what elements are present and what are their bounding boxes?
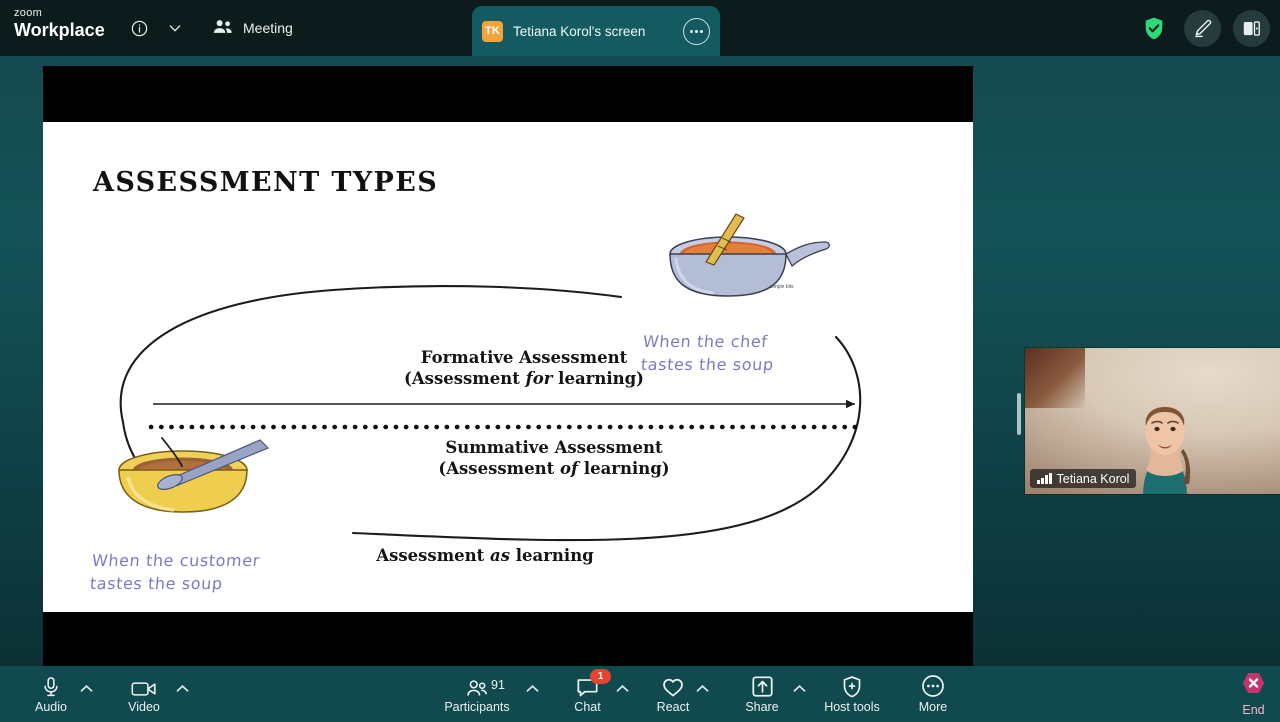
- audio-level-bars-icon: [1037, 473, 1052, 484]
- soup-pan-with-wooden-spoon-illustration: simple bits: [658, 202, 833, 312]
- chevron-down-icon[interactable]: [160, 0, 190, 56]
- as-learning-pre: Assessment: [376, 546, 490, 565]
- info-circle-icon[interactable]: [124, 0, 154, 56]
- participant-name-badge: Tetiana Korol: [1030, 469, 1136, 488]
- as-learning-post: learning: [510, 546, 594, 565]
- host-tools-control[interactable]: Host tools: [812, 666, 892, 722]
- svg-text:simple bits: simple bits: [770, 284, 794, 290]
- summative-line-2-emphasis: of: [560, 459, 578, 478]
- tab-title: Tetiana Korol's screen: [513, 24, 673, 39]
- summative-line-2-pre: (Assessment: [438, 459, 560, 478]
- video-label: Video: [128, 701, 160, 714]
- heart-icon: [661, 674, 685, 698]
- video-background-corner: [1025, 348, 1085, 408]
- summative-assessment-label: Summative Assessment (Assessment of lear…: [404, 437, 704, 480]
- formative-line-2-emphasis: for: [526, 369, 553, 388]
- brand-zoom-text: zoom: [14, 8, 105, 19]
- more-dots-icon: [921, 674, 945, 698]
- shield-host-icon: [841, 674, 863, 698]
- chat-options-caret-icon[interactable]: [616, 684, 629, 696]
- presentation-slide: ASSESSMENT TYPES: [43, 122, 973, 612]
- microphone-icon: [41, 674, 61, 698]
- assessment-as-learning-label: Assessment as learning: [335, 545, 635, 566]
- shared-screen-tab[interactable]: TK Tetiana Korol's screen: [472, 6, 720, 56]
- audio-label: Audio: [35, 701, 67, 714]
- more-control[interactable]: More: [900, 666, 966, 722]
- soup-bowl-with-spoon-illustration: [108, 432, 298, 527]
- participants-options-caret-icon[interactable]: [526, 684, 539, 696]
- host-tools-label: Host tools: [824, 701, 880, 714]
- top-bar: zoom Workplace Meeting TK: [0, 0, 1280, 56]
- meeting-stage: ASSESSMENT TYPES: [0, 56, 1280, 666]
- share-control[interactable]: Share: [737, 666, 787, 722]
- meeting-tab-button[interactable]: Meeting: [212, 0, 293, 56]
- formative-line-1: Formative Assessment: [421, 348, 627, 367]
- share-options-caret-icon[interactable]: [793, 684, 806, 696]
- view-layout-icon[interactable]: [1233, 10, 1270, 47]
- end-call-x-icon: [1241, 671, 1266, 700]
- video-options-caret-icon[interactable]: [176, 684, 189, 696]
- participants-icon: 91: [465, 674, 489, 698]
- participant-video-thumbnail[interactable]: Tetiana Korol: [1025, 348, 1280, 494]
- formative-assessment-label: Formative Assessment (Assessment for lea…: [374, 347, 674, 390]
- brand-workplace-text: Workplace: [14, 21, 105, 39]
- react-control[interactable]: React: [648, 666, 698, 722]
- zoom-meeting-window: zoom Workplace Meeting TK: [0, 0, 1280, 722]
- end-label: End: [1242, 703, 1264, 717]
- formative-line-2-post: learning): [552, 369, 644, 388]
- share-screen-icon: [751, 674, 774, 698]
- annotate-pencil-icon[interactable]: [1184, 10, 1221, 47]
- avatar: TK: [482, 21, 503, 42]
- summative-line-2-post: learning): [578, 459, 670, 478]
- formative-line-2-pre: (Assessment: [404, 369, 526, 388]
- more-label: More: [919, 701, 947, 714]
- chat-unread-badge: 1: [590, 669, 611, 684]
- video-control[interactable]: Video: [118, 666, 170, 722]
- handwritten-note-chef: When the chef tastes the soup: [640, 330, 777, 376]
- participants-group-icon: [212, 18, 234, 39]
- participant-name: Tetiana Korol: [1057, 472, 1130, 486]
- more-options-icon[interactable]: [683, 18, 710, 45]
- top-right-actions: [1135, 0, 1270, 56]
- shared-screen-viewport[interactable]: ASSESSMENT TYPES: [43, 66, 973, 667]
- chat-label: Chat: [574, 701, 600, 714]
- end-meeting-control[interactable]: End: [1241, 666, 1266, 722]
- participants-control[interactable]: 91 Participants: [443, 666, 511, 722]
- meeting-label: Meeting: [243, 20, 293, 36]
- security-shield-icon[interactable]: [1135, 10, 1172, 47]
- summative-line-1: Summative Assessment: [445, 438, 662, 457]
- meeting-controls-bar: Audio Video 91: [0, 666, 1280, 722]
- handwritten-note-customer: When the customer tastes the soup: [89, 549, 261, 595]
- participants-label: Participants: [444, 701, 509, 714]
- participants-count: 91: [491, 678, 505, 692]
- audio-options-caret-icon[interactable]: [80, 684, 93, 696]
- share-label: Share: [745, 701, 778, 714]
- zoom-workplace-logo: zoom Workplace: [14, 8, 105, 39]
- audio-control[interactable]: Audio: [26, 666, 76, 722]
- camera-icon: [131, 674, 157, 698]
- chat-bubble-icon: 1: [576, 674, 599, 698]
- chat-control[interactable]: 1 Chat: [564, 666, 611, 722]
- react-label: React: [657, 701, 690, 714]
- self-view-drag-handle[interactable]: [1017, 393, 1021, 435]
- react-options-caret-icon[interactable]: [696, 684, 709, 696]
- as-learning-emphasis: as: [490, 546, 510, 565]
